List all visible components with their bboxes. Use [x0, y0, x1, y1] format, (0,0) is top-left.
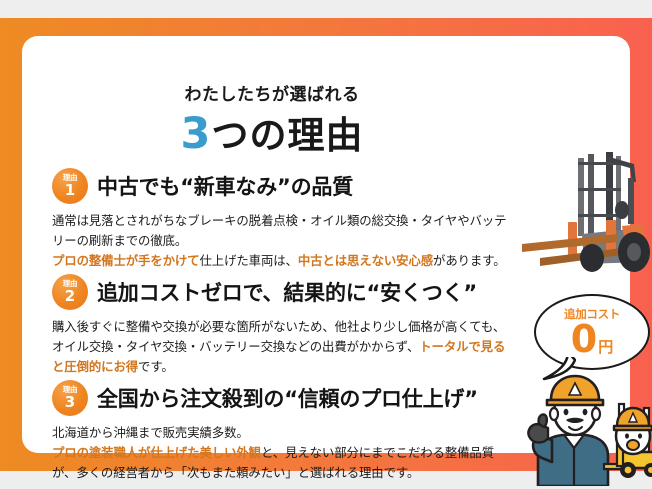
bubble-yen-unit: 円	[598, 336, 613, 357]
reason-1-badge: 理由 1	[52, 168, 88, 204]
reason-1-text-1: プロの整備士が手をかけて	[52, 253, 200, 268]
reason-2-body: 購入後すぐに整備や交換が必要な箇所がないため、他社より少し価格が高くても、オイル…	[52, 317, 514, 377]
bubble-price: 0 円	[571, 320, 613, 358]
reason-1-body: 通常は見落とされがちなブレーキの脱着点検・オイル類の総交換・タイヤやバッテリーの…	[52, 211, 514, 271]
reason-1-badge-number: 1	[65, 183, 75, 198]
reason-3-text-1: プロの塗装職人が仕上げた美しい外観	[52, 445, 261, 460]
reason-block-2: 理由 2 追加コストゼロで、結果的に“安くつく” 購入後すぐに整備や交換が必要な…	[52, 272, 514, 377]
reason-block-3: 理由 3 全国から注文殺到の“信頼のプロ仕上げ” 北海道から沖縄まで販売実績多数…	[52, 378, 514, 483]
reason-1-header: 理由 1 中古でも“新車なみ”の品質	[52, 166, 514, 206]
reason-3-badge: 理由 3	[52, 380, 88, 416]
title-main-rest: つの理由	[211, 114, 363, 157]
worker-thumbs-up-illustration	[518, 374, 652, 486]
reason-3-body: 北海道から沖縄まで販売実績多数。プロの塗装職人が仕上げた美しい外観と、見えない部…	[52, 423, 514, 483]
reason-2-badge: 理由 2	[52, 274, 88, 310]
white-content-card: わたしたちが選ばれる 3つの理由 理由 1 中古でも“新車なみ”の品質 通常は見…	[22, 36, 630, 453]
reason-3-badge-number: 3	[65, 395, 75, 410]
title-subtitle: わたしたちが選ばれる	[22, 86, 522, 105]
title-number: 3	[181, 109, 212, 159]
reason-3-header: 理由 3 全国から注文殺到の“信頼のプロ仕上げ”	[52, 378, 514, 418]
reason-2-header: 理由 2 追加コストゼロで、結果的に“安くつく”	[52, 272, 514, 312]
reason-1-text-4: があります。	[433, 253, 506, 268]
reason-3-heading: 全国から注文殺到の“信頼のプロ仕上げ”	[97, 383, 478, 413]
forklift-photo	[522, 148, 652, 276]
reason-1-text-0: 通常は見落とされがちなブレーキの脱着点検・オイル類の総交換・タイヤやバッテリーの…	[52, 213, 506, 248]
reason-1-heading: 中古でも“新車なみ”の品質	[97, 171, 353, 201]
page-title: わたしたちが選ばれる 3つの理由	[22, 86, 522, 157]
reason-block-1: 理由 1 中古でも“新車なみ”の品質 通常は見落とされがちなブレーキの脱着点検・…	[52, 166, 514, 271]
promo-graphic: わたしたちが選ばれる 3つの理由 理由 1 中古でも“新車なみ”の品質 通常は見…	[0, 0, 652, 489]
reason-2-text-2: です。	[138, 359, 174, 374]
reason-1-text-2: 仕上げた車両は、	[200, 253, 298, 268]
reason-2-badge-number: 2	[65, 289, 75, 304]
reason-2-heading: 追加コストゼロで、結果的に“安くつく”	[97, 277, 477, 307]
reason-1-text-3: 中古とは思えない安心感	[298, 253, 433, 268]
reason-3-text-0: 北海道から沖縄まで販売実績多数。	[52, 425, 249, 440]
title-main: 3つの理由	[22, 112, 522, 157]
